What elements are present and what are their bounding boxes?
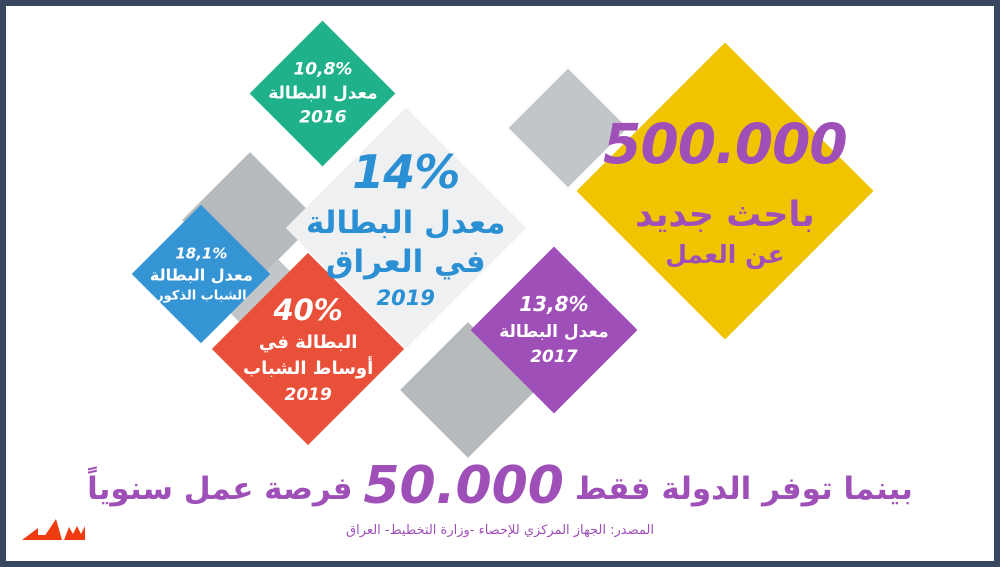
- caption-text-before: بينما توفر الدولة فقط: [575, 471, 913, 507]
- iraq-2019-percent: 14%: [306, 145, 506, 199]
- infographic-body: 500.000 باحث جديد عن العمل 10,8% معدل ال…: [6, 6, 994, 561]
- logo-mark-icon: [22, 514, 94, 548]
- new-jobseekers-label-line2: عن العمل: [603, 240, 847, 270]
- new-jobseekers-number: 500.000: [603, 112, 847, 177]
- unemployment-2016-label: معدل البطالة: [268, 83, 377, 103]
- new-jobseekers-label-line1: باحث جديد: [603, 195, 847, 236]
- stat-diamond-new-jobseekers[interactable]: 500.000 باحث جديد عن العمل: [577, 43, 874, 340]
- unemployment-2017-year: 2017: [499, 347, 608, 367]
- iraq-2019-year: 2019: [306, 286, 506, 311]
- youth-2019-label-line1: البطالة في: [243, 332, 373, 353]
- male-youth-label-line1: معدل البطالة: [150, 266, 253, 285]
- caption-number: 50.000: [363, 456, 564, 516]
- male-youth-label-line2: الشباب الذكور: [150, 288, 253, 303]
- iraq-2019-label-line2: في العراق: [306, 244, 506, 281]
- footer-caption: بينما توفر الدولة فقط 50.000 فرصة عمل سن…: [6, 458, 994, 515]
- unemployment-2017-label: معدل البطالة: [499, 322, 608, 342]
- unemployment-2017-percent: 13,8%: [499, 293, 608, 317]
- source-line: المصدر: الجهاز المركزي للإحصاء -وزارة ال…: [6, 523, 994, 538]
- unemployment-2016-percent: 10,8%: [268, 59, 377, 79]
- youth-2019-label-line2: أوساط الشباب: [243, 359, 373, 380]
- caption-text-after: فرصة عمل سنوياً: [87, 471, 352, 507]
- male-youth-percent: 18,1%: [150, 245, 253, 263]
- footer: بينما توفر الدولة فقط 50.000 فرصة عمل سن…: [6, 458, 994, 538]
- publisher-logo: [22, 514, 94, 552]
- unemployment-2016-year: 2016: [268, 108, 377, 128]
- youth-2019-year: 2019: [243, 385, 373, 405]
- infographic-canvas: 500.000 باحث جديد عن العمل 10,8% معدل ال…: [0, 0, 1000, 567]
- iraq-2019-label-line1: معدل البطالة: [306, 205, 506, 242]
